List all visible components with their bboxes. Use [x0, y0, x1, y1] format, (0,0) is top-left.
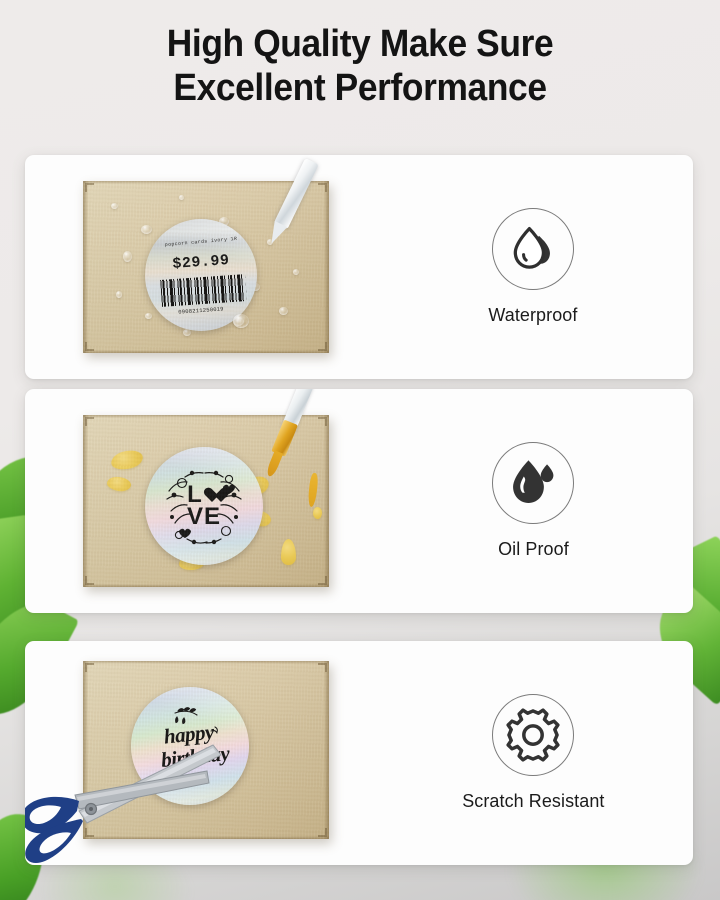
- page-title-line-2: Excellent Performance: [25, 66, 695, 110]
- water-droplet: [219, 217, 229, 226]
- box-corner-bl: [85, 576, 94, 585]
- water-droplet: [233, 317, 244, 326]
- sticker-barcode-number: 0908211250019: [145, 304, 257, 319]
- sticker-sheen: [145, 219, 257, 331]
- box-right-flap: [324, 415, 329, 587]
- water-droplet: [145, 313, 152, 319]
- water-droplet: [116, 291, 122, 298]
- love-text: L VE: [145, 447, 263, 565]
- box-bottom-edge: [83, 584, 329, 587]
- water-droplet: [279, 307, 288, 315]
- feature-panel-scratch-resistant: happy birthday: [25, 641, 693, 865]
- scissors-blade-lower: [75, 771, 209, 809]
- feature-label-scratch-resistant: Scratch Resistant: [462, 790, 604, 812]
- box-bottom-edge: [83, 350, 329, 353]
- water-droplet-on-sticker: [233, 314, 249, 328]
- oil-splotch: [106, 475, 132, 492]
- love-line-1: L: [187, 484, 221, 506]
- box-left-flap: [83, 181, 88, 353]
- scissors: [25, 737, 267, 865]
- box-left-flap: [83, 415, 88, 587]
- oil-splotch: [109, 448, 144, 472]
- water-droplet: [195, 233, 203, 240]
- water-droplet: [293, 269, 299, 275]
- box-corner-tr: [318, 417, 327, 426]
- love-sticker: L VE: [145, 447, 263, 565]
- floral-wreath-decor: [145, 447, 263, 565]
- page-title: High Quality Make Sure Excellent Perform…: [25, 22, 695, 110]
- water-droplet: [251, 283, 260, 291]
- water-drop-icon: [492, 208, 574, 290]
- water-droplet: [179, 195, 184, 200]
- water-droplet: [111, 203, 118, 209]
- box-corner-br: [318, 576, 327, 585]
- oil-splotch: [200, 523, 240, 549]
- page-title-line-1: High Quality Make Sure: [25, 22, 695, 66]
- water-droplet: [183, 329, 191, 336]
- box-corner-tr: [318, 663, 327, 672]
- water-droplet: [123, 251, 132, 262]
- heart-icon: [204, 486, 221, 503]
- gear-icon: [492, 694, 574, 776]
- feature-oil-proof: Oil Proof: [413, 389, 653, 613]
- box-corner-tl: [85, 183, 94, 192]
- infographic-stage: High Quality Make Sure Excellent Perform…: [0, 0, 720, 900]
- water-droplet: [201, 271, 213, 282]
- box-corner-tr: [318, 183, 327, 192]
- price-sticker: popcorn cards ivory 1R $29.99 0908211250…: [145, 219, 257, 331]
- feature-panel-oil-proof: L VE Oil Pr: [25, 389, 693, 613]
- love-letter-l: L: [187, 484, 203, 506]
- feature-panel-waterproof: popcorn cards ivory 1R $29.99 0908211250…: [25, 155, 693, 379]
- water-droplet: [233, 243, 242, 253]
- oil-splotch: [248, 509, 273, 529]
- oil-splotch: [178, 554, 205, 572]
- box-corner-tl: [85, 663, 94, 672]
- feature-label-oil-proof: Oil Proof: [498, 538, 569, 560]
- sticker-price: $29.99: [145, 250, 257, 275]
- box-corner-bl: [85, 342, 94, 351]
- sticker-sheen: [145, 447, 263, 565]
- box-corner-br: [318, 342, 327, 351]
- sticker-barcode: [160, 274, 247, 307]
- box-top-edge: [83, 661, 329, 664]
- box-corner-tl: [85, 417, 94, 426]
- love-line-2: VE: [187, 506, 221, 528]
- sticker-curved-text: popcorn cards ivory 1R: [145, 234, 257, 250]
- water-droplet: [141, 225, 152, 234]
- oil-drop-icon: [492, 442, 574, 524]
- box-right-flap: [324, 181, 329, 353]
- feature-scratch-resistant: Scratch Resistant: [413, 641, 653, 865]
- box-corner-br: [318, 828, 327, 837]
- feature-waterproof: Waterproof: [413, 155, 653, 379]
- dropper-oil-tip: [265, 450, 283, 477]
- oil-droplet-falling: [313, 507, 322, 519]
- feature-label-waterproof: Waterproof: [488, 304, 577, 326]
- box-right-flap: [324, 661, 329, 839]
